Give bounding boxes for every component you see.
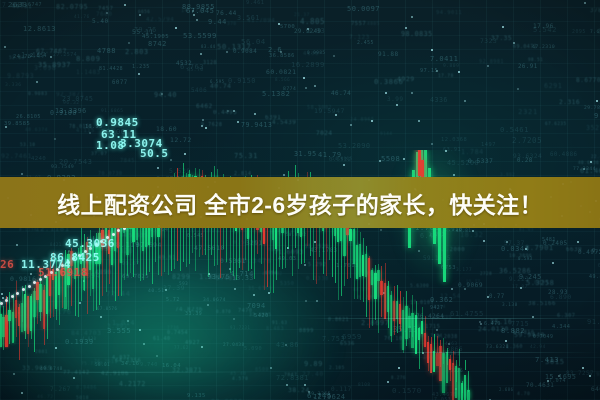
sheen-line-3 [0,372,260,373]
sheen-line-1 [300,318,600,319]
promo-banner: 线上配资公司 全市2-6岁孩子的家长，快关注！ [0,177,600,228]
banner-headline: 线上配资公司 全市2-6岁孩子的家长，快关注！ [0,177,600,228]
screenshot-root: 42.579443360.704982990.2239.15449.07480.… [0,0,600,400]
sheen-line-2 [330,352,600,353]
